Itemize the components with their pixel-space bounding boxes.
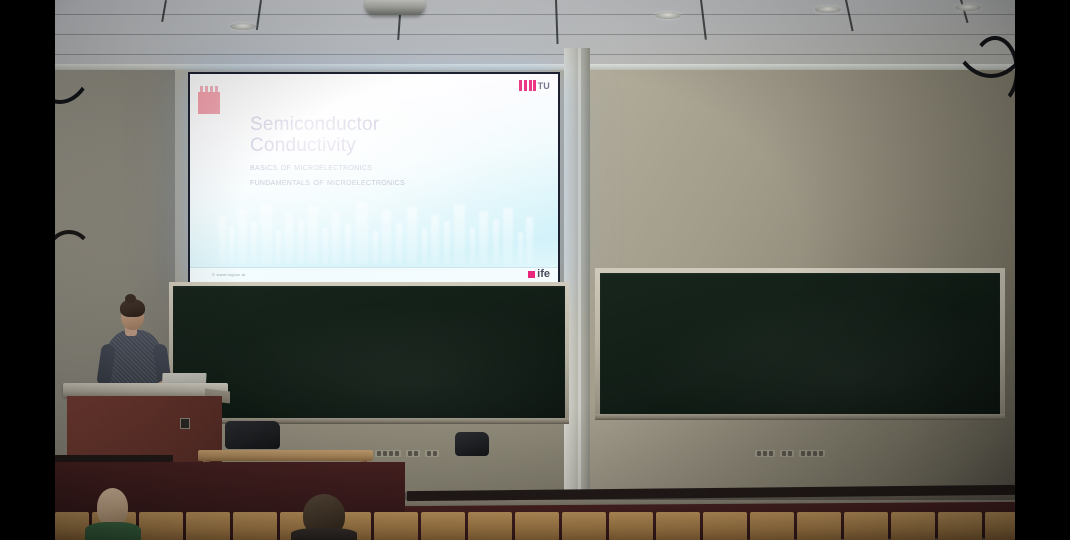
socket[interactable] — [433, 451, 437, 456]
ceiling-tile-line — [55, 14, 1015, 15]
socket-group[interactable] — [375, 450, 401, 457]
audience-shoulders-1 — [85, 522, 141, 540]
slide-title-line-1: Semiconductor — [250, 114, 379, 135]
socket[interactable] — [427, 451, 431, 456]
slide-subtitle-2: Fundamentals of Microelectronics — [250, 176, 405, 188]
seat — [985, 512, 1015, 540]
right-board-ledge — [595, 414, 1005, 420]
ceiling-light-icon — [655, 12, 681, 19]
tu-logo-mark-icon — [519, 80, 536, 91]
socket[interactable] — [813, 451, 817, 456]
ceiling-tile-line — [55, 34, 1015, 35]
bag-floor — [455, 432, 489, 456]
ife-logo-mark-icon — [528, 271, 535, 278]
projector-icon — [365, 0, 425, 15]
seat — [938, 512, 982, 540]
seat — [844, 512, 888, 540]
slide-title: Semiconductor Conductivity — [250, 114, 379, 156]
seat — [55, 512, 89, 540]
socket-group[interactable] — [799, 450, 825, 457]
letterbox-bar-left — [0, 0, 55, 540]
socket[interactable] — [389, 451, 393, 456]
podium-control-panel[interactable] — [180, 418, 190, 429]
letterbox-bar-right — [1015, 0, 1070, 540]
seat — [233, 512, 277, 540]
slide-subtitle-1: Basics of Microelectronics — [250, 161, 372, 173]
socket[interactable] — [769, 451, 773, 456]
slide-footer-text: © www.tugraz.at — [212, 272, 246, 277]
seat — [797, 512, 841, 540]
socket[interactable] — [782, 451, 786, 456]
video-frame: TU Semiconductor Conductivity Basics of … — [0, 0, 1070, 540]
right-wall-sockets[interactable] — [755, 450, 825, 457]
socket[interactable] — [414, 451, 418, 456]
left-blackboard — [173, 286, 565, 418]
socket[interactable] — [819, 451, 823, 456]
socket-group[interactable] — [406, 450, 420, 457]
lecture-hall-scene: TU Semiconductor Conductivity Basics of … — [55, 0, 1015, 540]
socket[interactable] — [807, 451, 811, 456]
socket[interactable] — [377, 451, 381, 456]
seat — [186, 512, 230, 540]
socket-group[interactable] — [780, 450, 794, 457]
wall-column — [564, 48, 590, 500]
board-sheen — [600, 273, 1000, 414]
ceiling — [55, 0, 1015, 72]
seat — [468, 512, 512, 540]
socket-group[interactable] — [755, 450, 775, 457]
ceiling-tile-line — [55, 54, 1015, 55]
seat — [515, 512, 559, 540]
presentation-slide: TU Semiconductor Conductivity Basics of … — [190, 74, 558, 286]
tu-logo-text: TU — [538, 82, 550, 90]
seat — [609, 512, 653, 540]
socket[interactable] — [788, 451, 792, 456]
socket[interactable] — [757, 451, 761, 456]
ife-logo: ife — [528, 269, 550, 280]
audience-head-1 — [97, 488, 128, 526]
ceiling-light-icon — [815, 6, 841, 13]
left-wall-sockets[interactable] — [375, 450, 439, 457]
seat — [139, 512, 183, 540]
slide-title-line-2: Conductivity — [250, 135, 379, 156]
seat — [750, 512, 794, 540]
seat — [703, 512, 747, 540]
seat — [374, 512, 418, 540]
wall-column-highlight — [578, 48, 581, 500]
tu-graz-logo: TU — [519, 80, 550, 91]
seat — [891, 512, 935, 540]
audience-shoulders-2 — [291, 528, 357, 540]
side-table-top — [198, 450, 373, 461]
socket[interactable] — [408, 451, 412, 456]
right-blackboard — [600, 273, 1000, 414]
socket[interactable] — [395, 451, 399, 456]
hanging-cable — [971, 36, 1015, 106]
socket-group[interactable] — [425, 450, 439, 457]
seat — [421, 512, 465, 540]
bag-on-table — [225, 421, 280, 449]
socket[interactable] — [383, 451, 387, 456]
seat — [562, 512, 606, 540]
socket[interactable] — [801, 451, 805, 456]
socket[interactable] — [763, 451, 767, 456]
board-sheen — [173, 286, 565, 418]
ceiling-light-icon — [230, 23, 256, 30]
slide-corner-badge — [198, 92, 220, 114]
seat-row-front — [55, 512, 1015, 540]
slide-background-artwork — [215, 194, 535, 264]
podium-desktop — [63, 383, 228, 397]
seat — [656, 512, 700, 540]
lecturer-hair-bun — [125, 294, 136, 303]
ife-logo-text: ife — [537, 269, 550, 280]
